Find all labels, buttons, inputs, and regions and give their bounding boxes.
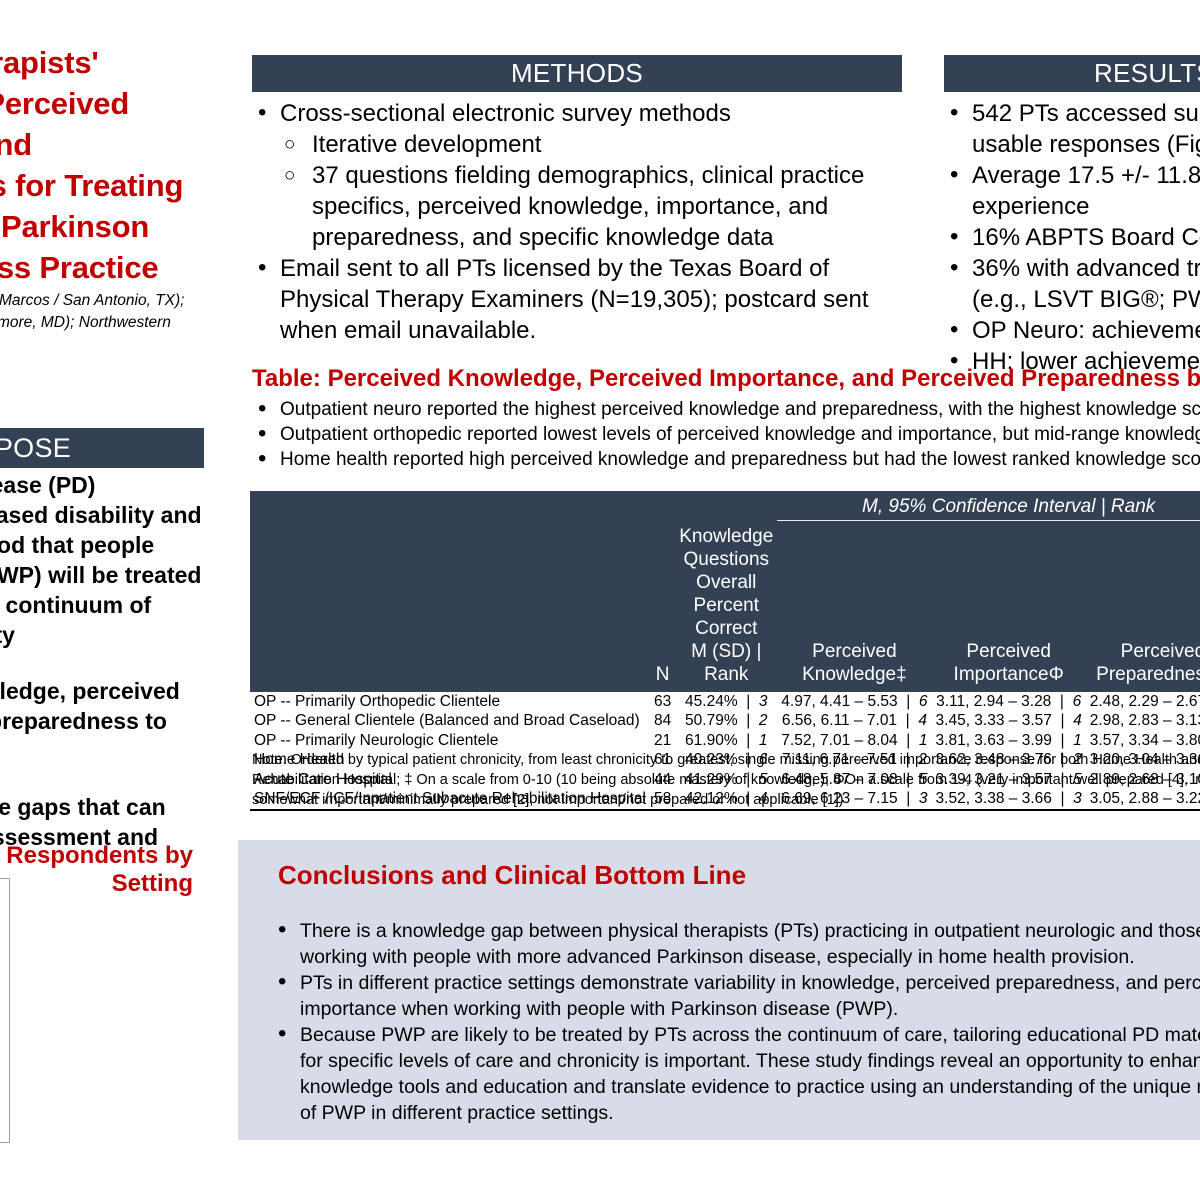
methods-body: Cross-sectional electronic survey method…: [252, 98, 912, 346]
conclusions-body: There is a knowledge gap between physica…: [272, 918, 1200, 1126]
methods-list: Cross-sectional electronic survey method…: [252, 98, 912, 346]
list-item: Outpatient neuro reported the highest pe…: [252, 397, 1200, 422]
cell-n: 63: [650, 692, 675, 712]
cell-pp-value: 2.48, 2.29 – 2.67: [1090, 693, 1200, 710]
cell-pk-value: 6.56, 6.11 – 7.01: [782, 712, 897, 729]
list-item: 16% ABPTS Board Certified: [944, 222, 1200, 253]
cell-pi-rank: 4: [1073, 712, 1082, 729]
list-item: 36% with advanced training in PD (e.g., …: [944, 253, 1200, 315]
cell-pi-rank: 1: [1073, 732, 1082, 749]
bar-row: 44 (13.3%): [0, 1058, 9, 1099]
cell-perceived-importance: 3.11, 2.94 – 3.28 | 6: [932, 692, 1086, 712]
cell-pk-rank: 6: [919, 693, 928, 710]
conclusions-title: Conclusions and Clinical Bottom Line: [278, 860, 746, 891]
cell-pp-value: 2.98, 2.83 – 3.13: [1090, 712, 1200, 729]
list-item: Because PWP are likely to be treated by …: [272, 1022, 1200, 1126]
poster-canvas: Physical Therapists' Knowledge, Perceive…: [0, 0, 1200, 1200]
col-header-line: Questions Overall: [679, 548, 773, 594]
author-affiliations: Texas State University (San Marcos / San…: [0, 290, 204, 356]
conclusions-list: There is a knowledge gap between physica…: [272, 918, 1200, 1126]
cell-perceived-knowledge: 7.52, 7.01 – 8.04 | 1: [777, 731, 931, 751]
list-item: Iterative development: [280, 129, 912, 160]
cell-pct-value: 45.24%: [685, 693, 738, 710]
cell-setting: OP -- General Clientele (Balanced and Br…: [250, 711, 650, 731]
methods-sublist: Iterative development 37 questions field…: [280, 129, 912, 253]
col-header-line: Knowledge‡: [781, 663, 927, 686]
page-title: Physical Therapists' Knowledge, Perceive…: [0, 42, 204, 329]
cell-pk-value: 7.52, 7.01 – 8.04: [781, 732, 897, 749]
cell-percent-correct: 61.90% | 1: [675, 731, 777, 751]
cell-n: 84: [650, 711, 675, 731]
list-item: Cross-sectional electronic survey method…: [252, 98, 912, 253]
cell-pct-rank: 1: [759, 732, 768, 749]
bar-row: 58 (17.5%): [0, 1102, 9, 1143]
col-header-line: Perceived: [936, 640, 1082, 663]
col-header-line: ImportanceΦ: [936, 663, 1082, 686]
col-header-n: N: [650, 521, 675, 692]
cell-n: 21: [650, 731, 675, 751]
list-item: Average 17.5 +/- 11.8 years of experienc…: [944, 160, 1200, 222]
bar-chart-bars: 63 (19.0%) 84 (25.4%) 21 (6.3%) 61 (18.4…: [0, 879, 9, 1142]
table-note-line: somewhat important/minimally prepared [2…: [252, 790, 1200, 810]
cell-perceived-importance: 3.45, 3.33 – 3.57 | 4: [932, 711, 1086, 731]
cell-setting: OP -- Primarily Neurologic Clientele: [250, 731, 650, 751]
table-row: OP -- Primarily Orthopedic Clientele 63 …: [250, 692, 1200, 712]
table-section-bullets: Outpatient neuro reported the highest pe…: [252, 397, 1200, 472]
cell-percent-correct: 50.79% | 2: [675, 711, 777, 731]
cell-pct-rank: 3: [759, 693, 768, 710]
table-bullet-list: Outpatient neuro reported the highest pe…: [252, 397, 1200, 472]
cell-perceived-knowledge: 4.97, 4.41 – 5.53 | 6: [777, 692, 931, 712]
col-header-perceived-knowledge: Perceived Knowledge‡: [777, 521, 931, 692]
conclusions-panel: Conclusions and Clinical Bottom Line The…: [238, 840, 1200, 1140]
cell-perceived-knowledge: 6.56, 6.11 – 7.01 | 4: [777, 711, 931, 731]
cell-perceived-importance: 3.81, 3.63 – 3.99 | 1: [932, 731, 1086, 751]
cell-pk-rank: 4: [918, 712, 927, 729]
section-header-results: RESULTS: [944, 55, 1200, 92]
table-row: OP -- Primarily Neurologic Clientele 21 …: [250, 731, 1200, 751]
figure-chart: 63 (19.0%) 84 (25.4%) 21 (6.3%) 61 (18.4…: [0, 878, 10, 1143]
cell-pct-value: 50.79%: [685, 712, 738, 729]
list-item: Outpatient orthopedic reported lowest le…: [252, 422, 1200, 447]
bar-row: 84 (25.4%): [0, 926, 9, 967]
col-header-line: Perceived: [1090, 640, 1200, 663]
cell-pct-rank: 2: [759, 712, 768, 729]
list-item: Email sent to all PTs licensed by the Te…: [252, 253, 912, 346]
col-header-perceived-importance: Perceived ImportanceΦ: [932, 521, 1086, 692]
table-head-group-row: M, 95% Confidence Interval | Rank: [250, 491, 1200, 521]
col-header-n-spacer: [650, 491, 675, 521]
cell-setting: OP -- Primarily Orthopedic Clientele: [250, 692, 650, 712]
section-header-purpose: PURPOSE: [0, 428, 204, 468]
list-item: OP Neuro: achievement highest: [944, 315, 1200, 346]
table-note-line: Rehabilitation Hospital; ‡ On a scale fr…: [252, 770, 1200, 790]
table-note: Note. Ordered by typical patient chronic…: [252, 750, 1200, 810]
left-column: Physical Therapists' Knowledge, Perceive…: [0, 0, 204, 1200]
bar-row: 63 (19.0%): [0, 882, 9, 923]
col-header-setting: [250, 521, 650, 692]
cell-perceived-preparedness: 2.48, 2.29 – 2.67 | 6: [1086, 692, 1200, 712]
col-header-knowledge-spacer: [675, 491, 777, 521]
col-header-perceived-preparedness: Perceived PreparednessΦ: [1086, 521, 1200, 692]
cell-pi-value: 3.81, 3.63 – 3.99: [936, 732, 1052, 749]
list-item: Home health reported high perceived know…: [252, 447, 1200, 472]
list-item: 37 questions fielding demographics, clin…: [280, 160, 912, 253]
col-header-line: M (SD) | Rank: [679, 640, 773, 686]
cell-pct-value: 61.90%: [685, 732, 738, 749]
table-head: M, 95% Confidence Interval | Rank N Know…: [250, 491, 1200, 692]
table-note-line: Note. Ordered by typical patient chronic…: [252, 750, 1200, 770]
figure-title: Figure: Survey Respondents by Setting: [0, 842, 204, 898]
table-head-row: N Knowledge Questions Overall Percent Co…: [250, 521, 1200, 692]
cell-pi-value: 3.11, 2.94 – 3.28: [936, 693, 1051, 710]
table-section-heading: Table: Perceived Knowledge, Perceived Im…: [252, 365, 1200, 393]
cell-perceived-preparedness: 2.98, 2.83 – 3.13 | 4: [1086, 711, 1200, 731]
cell-perceived-preparedness: 3.57, 3.34 – 3.80 | 1: [1086, 731, 1200, 751]
cell-pp-value: 3.57, 3.34 – 3.80: [1090, 732, 1200, 749]
bar-row: 61 (18.4%): [0, 1014, 9, 1055]
cell-pk-value: 4.97, 4.41 – 5.53: [781, 693, 897, 710]
col-header-line: Perceived: [781, 640, 927, 663]
col-header-ci-group: M, 95% Confidence Interval | Rank: [777, 491, 1200, 521]
list-item: There is a knowledge gap between physica…: [272, 918, 1200, 970]
list-item: 542 PTs accessed survey; 331 usable resp…: [944, 98, 1200, 160]
results-list: 542 PTs accessed survey; 331 usable resp…: [944, 98, 1200, 377]
section-header-methods: METHODS: [252, 55, 902, 92]
list-item: PTs in different practice settings demon…: [272, 970, 1200, 1022]
cell-percent-correct: 45.24% | 3: [675, 692, 777, 712]
col-header-knowledge-overall: Knowledge Questions Overall Percent Corr…: [675, 521, 777, 692]
col-header-line: Percent Correct: [679, 594, 773, 640]
cell-pi-value: 3.45, 3.33 – 3.57: [936, 712, 1052, 729]
cell-pi-rank: 6: [1073, 693, 1082, 710]
cell-pk-rank: 1: [919, 732, 928, 749]
purpose-paragraph: As Parkinson disease (PD) progresses, in…: [0, 470, 204, 650]
col-header-line: Knowledge: [679, 525, 773, 548]
col-header-setting-spacer: [250, 491, 650, 521]
table-row: OP -- General Clientele (Balanced and Br…: [250, 711, 1200, 731]
results-body: 542 PTs accessed survey; 331 usable resp…: [944, 98, 1200, 377]
methods-item-text: Cross-sectional electronic survey method…: [280, 100, 731, 127]
purpose-paragraph: Examine PT knowledge, perceived importan…: [0, 676, 204, 766]
bar-row: 21 (6.3%): [0, 970, 9, 1011]
col-header-line: PreparednessΦ: [1090, 663, 1200, 686]
